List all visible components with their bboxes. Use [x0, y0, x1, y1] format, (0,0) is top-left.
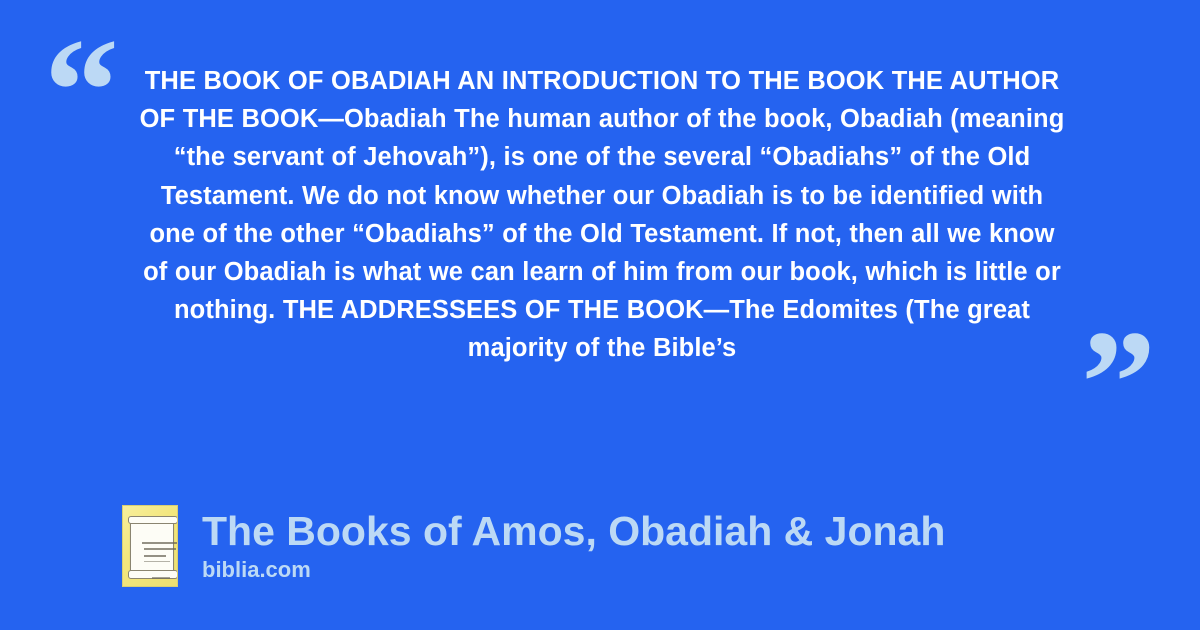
open-quote-icon: “: [44, 16, 119, 166]
book-title: The Books of Amos, Obadiah & Jonah: [202, 508, 945, 554]
scroll-line: [142, 542, 178, 544]
cover-signature: [152, 577, 170, 579]
scroll-line: [144, 548, 176, 550]
footer: The Books of Amos, Obadiah & Jonah bibli…: [122, 505, 945, 587]
scroll-line: [144, 555, 166, 557]
site-name: biblia.com: [202, 556, 945, 584]
footer-text-group: The Books of Amos, Obadiah & Jonah bibli…: [202, 508, 945, 584]
quote-text: THE BOOK OF OBADIAH AN INTRODUCTION TO T…: [136, 62, 1068, 368]
scroll-line: [144, 561, 170, 562]
book-cover-thumbnail-icon: [122, 505, 178, 587]
quote-container: THE BOOK OF OBADIAH AN INTRODUCTION TO T…: [136, 62, 1068, 368]
quote-card: “ THE BOOK OF OBADIAH AN INTRODUCTION TO…: [0, 0, 1200, 630]
close-quote-icon: ”: [1081, 308, 1156, 458]
scroll-illustration: [130, 517, 174, 577]
